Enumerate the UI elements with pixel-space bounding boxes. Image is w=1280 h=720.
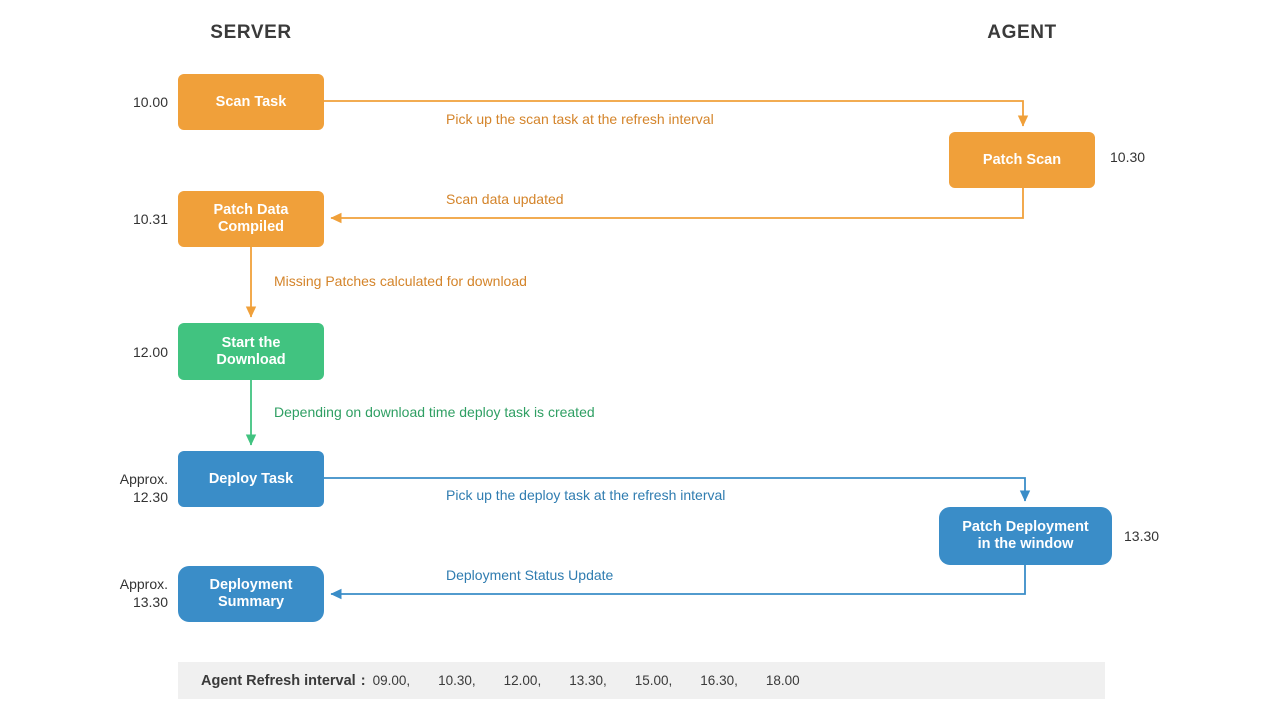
edge-label-missing-patches-calculated: Missing Patches calculated for download [274,273,527,289]
footer-interval-item: 09.00, [373,673,411,688]
column-heading-server: SERVER [178,22,324,44]
footer-interval-list: 09.00,10.30,12.00,13.30,15.00,16.30,18.0… [373,673,800,688]
edge-patch-deployment-to-deployment-summary [331,565,1025,594]
edge-patch-scan-to-patch-data [331,188,1023,218]
node-deploy-task[interactable]: Deploy Task [178,451,324,507]
time-label-deployment-summary: Approx. 13.30 [60,575,168,611]
edge-label-scan-data-updated: Scan data updated [446,191,564,207]
time-label-patch-data-compiled: 10.31 [60,210,168,228]
node-patch-data-compiled[interactable]: Patch Data Compiled [178,191,324,247]
footer-interval-item: 13.30, [569,673,607,688]
time-label-patch-scan: 10.30 [1110,148,1200,166]
footer-interval-item: 12.00, [504,673,542,688]
node-deployment-summary[interactable]: Deployment Summary [178,566,324,622]
edge-label-depending-on-download-time: Depending on download time deploy task i… [274,404,595,420]
node-start-the-download[interactable]: Start the Download [178,323,324,380]
node-scan-task[interactable]: Scan Task [178,74,324,130]
footer-interval-item: 10.30, [438,673,476,688]
edge-label-pickup-deploy-task: Pick up the deploy task at the refresh i… [446,487,725,503]
time-label-start-the-download: 12.00 [60,343,168,361]
footer-interval-item: 15.00, [635,673,673,688]
time-label-patch-deployment: 13.30 [1124,527,1214,545]
footer-interval-item: 16.30, [700,673,738,688]
edge-label-deployment-status-update: Deployment Status Update [446,567,613,583]
time-label-scan-task: 10.00 [60,93,168,111]
node-patch-scan[interactable]: Patch Scan [949,132,1095,188]
edge-label-pickup-scan-task: Pick up the scan task at the refresh int… [446,111,714,127]
column-heading-agent: AGENT [949,22,1095,44]
footer-interval-item: 18.00 [766,673,800,688]
footer-title: Agent Refresh interval [201,673,356,689]
time-label-deploy-task: Approx. 12.30 [60,470,168,506]
node-patch-deployment-in-the-window[interactable]: Patch Deployment in the window [939,507,1112,565]
footer-separator: : [361,673,366,689]
diagram-canvas: SERVER AGENT Scan Task Patch Scan Patch … [0,0,1280,720]
agent-refresh-interval-bar: Agent Refresh interval : 09.00,10.30,12.… [178,662,1105,699]
